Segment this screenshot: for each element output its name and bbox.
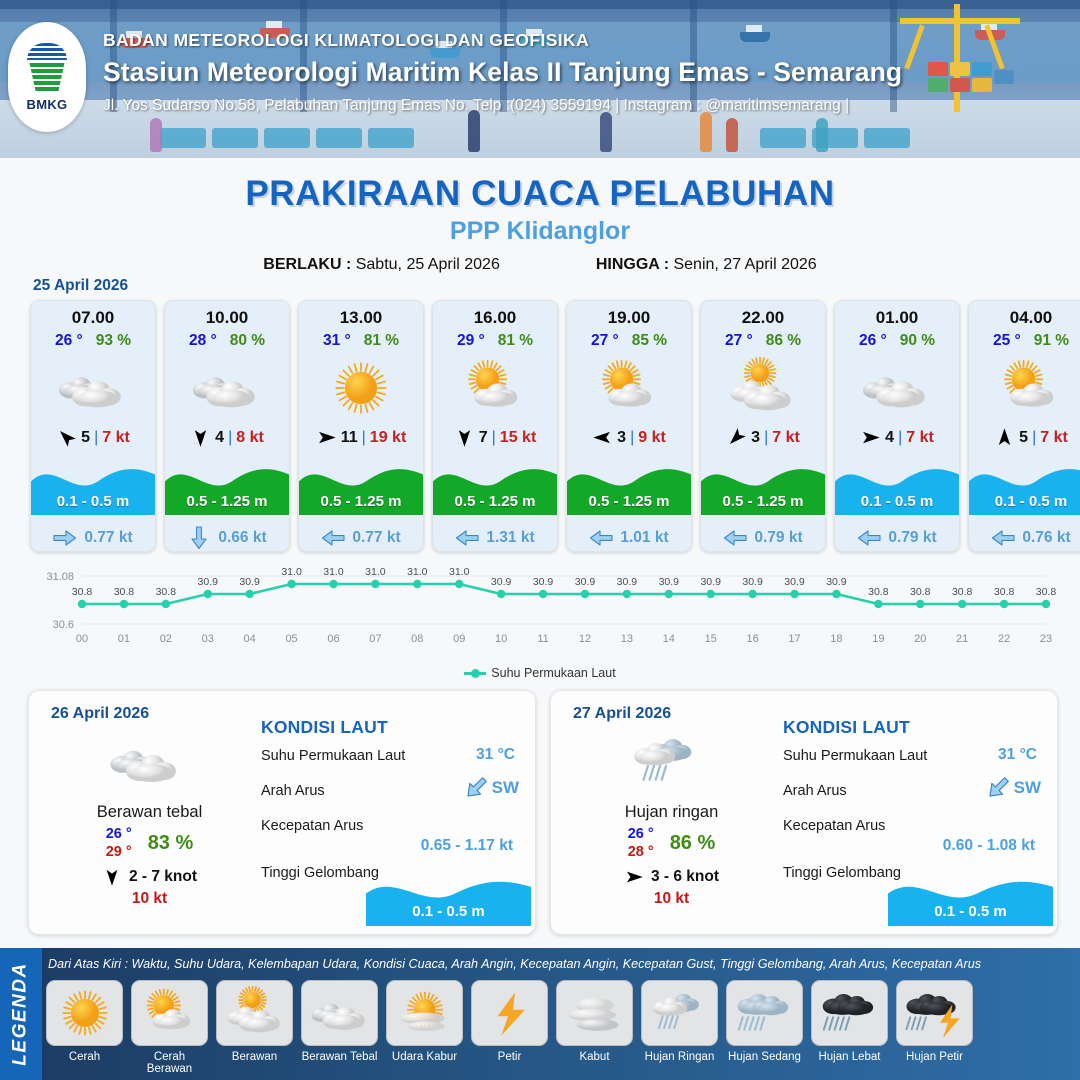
card-humidity: 90 % <box>900 332 935 350</box>
wave-height-value: 0.5 - 1.25 m <box>299 493 423 510</box>
wave-height-block: 0.1 - 0.5 m <box>835 457 959 515</box>
svg-text:13: 13 <box>621 633 633 645</box>
svg-text:22: 22 <box>998 633 1010 645</box>
card-time: 13.00 <box>299 308 423 328</box>
wind-direction-arrow-icon <box>190 427 211 448</box>
wind-speed: 4 <box>215 429 224 447</box>
svg-text:11: 11 <box>537 633 548 645</box>
current-speed: 1.01 kt <box>620 529 668 547</box>
weather-berawan-tebal-icon <box>165 355 289 421</box>
current-speed: 0.77 kt <box>84 529 132 547</box>
svg-text:30.9: 30.9 <box>575 576 596 588</box>
weather-cerah-berawan-icon <box>131 980 208 1046</box>
svg-text:00: 00 <box>76 633 88 645</box>
weather-cerah-berawan-icon <box>969 355 1080 421</box>
weather-udara-kabur-icon <box>386 980 463 1046</box>
svg-text:30.8: 30.8 <box>72 586 93 598</box>
svg-text:30.8: 30.8 <box>994 586 1015 598</box>
card-humidity: 93 % <box>96 332 131 350</box>
current-direction-arrow-icon <box>985 778 1011 798</box>
current-speed: 0.79 kt <box>888 529 936 547</box>
agency-name: BADAN METEOROLOGI KLIMATOLOGI DAN GEOFIS… <box>103 30 1063 51</box>
current-direction-value: SW <box>492 778 519 798</box>
svg-text:30.8: 30.8 <box>114 586 135 598</box>
forecast-card[interactable]: 16.00 29 ° 81 % 7 | 15 kt 0.5 - 1.25 m <box>432 300 558 552</box>
wind-separator: | <box>630 429 634 447</box>
panel-temp-min: 26 ° <box>106 825 132 843</box>
current-speed: 0.76 kt <box>1022 529 1070 547</box>
svg-text:12: 12 <box>579 633 591 645</box>
legend-band-title: LEGENDA <box>10 962 32 1065</box>
wind-separator: | <box>362 429 366 447</box>
legend-note: Dari Atas Kiri : Waktu, Suhu Udara, Kele… <box>48 957 1074 971</box>
card-time: 19.00 <box>567 308 691 328</box>
forecast-card[interactable]: 19.00 27 ° 85 % 3 | 9 kt 0.5 - 1.25 m <box>566 300 692 552</box>
card-temperature: 27 ° <box>725 332 753 350</box>
legend-item-label: Petir <box>471 1051 548 1063</box>
daily-summary-panels: 26 April 2026 Berawan tebal 26 ° 29 ° 83… <box>28 690 1058 935</box>
current-direction-arrow-icon <box>53 529 77 547</box>
svg-text:30.9: 30.9 <box>784 576 805 588</box>
forecast-card[interactable]: 22.00 27 ° 86 % 3 | 7 kt 0.5 - 1.25 <box>700 300 826 552</box>
panel-gust: 10 kt <box>569 890 774 908</box>
svg-text:30.8: 30.8 <box>156 586 177 598</box>
legend-item-label: Hujan Petir <box>896 1051 973 1063</box>
legend-item-list: Cerah Cerah Berawan Berawan <box>46 980 973 1075</box>
valid-until-label: HINGGA : <box>596 256 669 273</box>
card-time: 10.00 <box>165 308 289 328</box>
card-temperature: 26 ° <box>55 332 83 350</box>
wind-direction-arrow-icon <box>994 427 1015 448</box>
legend-item-label: Kabut <box>556 1051 633 1063</box>
svg-text:30.9: 30.9 <box>533 576 554 588</box>
sst-chart: 31.0830.630.80030.80130.80230.90330.9043… <box>22 562 1058 682</box>
sea-condition-title: KONDISI LAUT <box>261 717 523 738</box>
day-summary-panel: 26 April 2026 Berawan tebal 26 ° 29 ° 83… <box>28 690 536 935</box>
wave-height-block: 0.5 - 1.25 m <box>701 457 825 515</box>
station-name: Stasiun Meteorologi Maritim Kelas II Tan… <box>103 57 1063 88</box>
svg-text:02: 02 <box>160 633 172 645</box>
legend-item: Cerah <box>46 980 123 1075</box>
wind-speed: 5 <box>81 429 90 447</box>
legend-item-label: Cerah <box>46 1051 123 1063</box>
forecast-card[interactable]: 07.00 26 ° 93 % 5 | 7 kt 0.1 - 0.5 m <box>30 300 156 552</box>
current-direction-value: SW <box>1014 778 1041 798</box>
legend-item: Hujan Petir <box>896 980 973 1075</box>
legend-item: Berawan Tebal <box>301 980 378 1075</box>
svg-text:09: 09 <box>453 633 465 645</box>
wind-speed: 11 <box>341 429 358 447</box>
current-direction-arrow-icon <box>723 529 747 547</box>
weather-hujan-ringan-icon <box>569 729 774 795</box>
svg-text:14: 14 <box>663 633 675 645</box>
legend-item-label: Hujan Ringan <box>641 1051 718 1063</box>
wind-separator: | <box>492 429 496 447</box>
svg-text:30.8: 30.8 <box>868 586 889 598</box>
wind-direction-arrow-icon <box>316 427 337 448</box>
forecast-card[interactable]: 10.00 28 ° 80 % 4 | 8 kt 0.5 - 1.25 <box>164 300 290 552</box>
panel-temp-max: 28 ° <box>628 843 654 861</box>
current-direction-arrow-icon <box>857 529 881 547</box>
svg-text:20: 20 <box>914 633 926 645</box>
wind-separator: | <box>94 429 98 447</box>
svg-text:18: 18 <box>830 633 842 645</box>
panel-wave-block: 0.1 - 0.5 m <box>366 870 531 926</box>
wave-height-value: 0.1 - 0.5 m <box>31 493 155 510</box>
card-time: 16.00 <box>433 308 557 328</box>
svg-text:01: 01 <box>118 633 130 645</box>
current-direction-arrow-icon <box>455 529 479 547</box>
wind-gust: 15 kt <box>500 429 536 447</box>
wave-height-block: 0.1 - 0.5 m <box>969 457 1080 515</box>
valid-from: BERLAKU : Sabtu, 25 April 2026 <box>263 256 500 274</box>
panel-condition: Berawan tebal <box>47 803 252 822</box>
title-block: PRAKIRAAN CUACA PELABUHAN PPP Klidanglor… <box>0 174 1080 274</box>
legend-item: Cerah Berawan <box>131 980 208 1075</box>
weather-berawan-tebal-icon <box>31 355 155 421</box>
sst-label: Suhu Permukaan Laut <box>783 748 927 764</box>
weather-cerah-icon <box>299 355 423 421</box>
legend-item: Hujan Lebat <box>811 980 888 1075</box>
wind-gust: 8 kt <box>236 429 264 447</box>
card-temperature: 27 ° <box>591 332 619 350</box>
current-direction-label: Arah Arus <box>261 783 325 799</box>
page-header: BMKG BADAN METEOROLOGI KLIMATOLOGI DAN G… <box>0 0 1080 158</box>
svg-text:23: 23 <box>1040 633 1052 645</box>
panel-wind-range: 2 - 7 knot <box>129 868 197 886</box>
svg-text:30.9: 30.9 <box>198 576 219 588</box>
wave-height-block: 0.1 - 0.5 m <box>31 457 155 515</box>
port-name: PPP Klidanglor <box>0 217 1080 246</box>
legend-item-label: Hujan Sedang <box>726 1051 803 1063</box>
svg-text:30.8: 30.8 <box>1036 586 1057 598</box>
card-temperature: 25 ° <box>993 332 1021 350</box>
logo-label: BMKG <box>27 97 68 112</box>
wave-height-value: 0.1 - 0.5 m <box>835 493 959 510</box>
sst-label: Suhu Permukaan Laut <box>261 748 405 764</box>
wave-height-block: 0.5 - 1.25 m <box>567 457 691 515</box>
svg-text:30.8: 30.8 <box>910 586 931 598</box>
svg-text:30.9: 30.9 <box>826 576 847 588</box>
wind-direction-arrow-icon <box>454 427 475 448</box>
current-speed: 0.77 kt <box>352 529 400 547</box>
wave-height-block: 0.5 - 1.25 m <box>165 457 289 515</box>
svg-text:30.9: 30.9 <box>742 576 763 588</box>
wind-direction-arrow-icon <box>624 867 644 887</box>
svg-text:31.0: 31.0 <box>281 566 302 578</box>
panel-wind-range: 3 - 6 knot <box>651 868 719 886</box>
weather-berawan-icon <box>216 980 293 1046</box>
wind-separator: | <box>1032 429 1036 447</box>
weather-berawan-tebal-icon <box>835 355 959 421</box>
weather-hujan-lebat-icon <box>811 980 888 1046</box>
contact-info: Jl. Yos Sudarso No.58, Pelabuhan Tanjung… <box>103 97 1063 115</box>
legend-item: Kabut <box>556 980 633 1075</box>
wave-height-block: 0.5 - 1.25 m <box>433 457 557 515</box>
current-direction-arrow-icon <box>463 778 489 798</box>
weather-berawan-tebal-icon <box>301 980 378 1046</box>
wind-separator: | <box>898 429 902 447</box>
valid-from-value: Sabtu, 25 April 2026 <box>356 256 500 273</box>
svg-text:30.8: 30.8 <box>952 586 973 598</box>
svg-text:31.0: 31.0 <box>365 566 386 578</box>
svg-text:06: 06 <box>327 633 339 645</box>
current-direction-arrow-icon <box>321 529 345 547</box>
panel-date: 26 April 2026 <box>51 705 149 723</box>
panel-temp-min: 26 ° <box>628 825 654 843</box>
chart-legend: Suhu Permukaan Laut <box>22 666 1058 680</box>
current-direction-arrow-icon <box>187 529 211 547</box>
weather-kabut-icon <box>556 980 633 1046</box>
svg-text:03: 03 <box>202 633 214 645</box>
svg-text:30.9: 30.9 <box>659 576 680 588</box>
legend-item-label: Udara Kabur <box>386 1051 463 1063</box>
weather-cerah-icon <box>46 980 123 1046</box>
card-temperature: 29 ° <box>457 332 485 350</box>
wind-gust: 7 kt <box>906 429 934 447</box>
wind-direction-arrow-icon <box>56 427 77 448</box>
wind-separator: | <box>228 429 232 447</box>
wind-direction-arrow-icon <box>726 427 747 448</box>
current-speed-value: 0.65 - 1.17 kt <box>261 837 523 855</box>
wind-speed: 4 <box>885 429 894 447</box>
sst-value: 31 °C <box>998 746 1037 764</box>
wave-height-value: 0.5 - 1.25 m <box>567 493 691 510</box>
wind-separator: | <box>764 429 768 447</box>
svg-text:19: 19 <box>872 633 884 645</box>
legend-item: Hujan Ringan <box>641 980 718 1075</box>
legend-item-label: Berawan <box>216 1051 293 1063</box>
legend-item-label: Berawan Tebal <box>301 1051 378 1063</box>
card-humidity: 81 % <box>364 332 399 350</box>
wave-height-label: Tinggi Gelombang <box>261 865 379 881</box>
card-time: 01.00 <box>835 308 959 328</box>
legend-item: Hujan Sedang <box>726 980 803 1075</box>
card-humidity: 80 % <box>230 332 265 350</box>
wave-height-value: 0.5 - 1.25 m <box>165 493 289 510</box>
wind-speed: 7 <box>479 429 488 447</box>
panel-humidity: 86 % <box>670 832 716 855</box>
current-speed: 1.31 kt <box>486 529 534 547</box>
svg-text:30.6: 30.6 <box>53 619 74 631</box>
valid-from-label: BERLAKU : <box>263 256 351 273</box>
svg-text:16: 16 <box>746 633 758 645</box>
wave-height-label: Tinggi Gelombang <box>783 865 901 881</box>
current-direction-label: Arah Arus <box>783 783 847 799</box>
panel-gust: 10 kt <box>47 890 252 908</box>
panel-temp-max: 29 ° <box>106 843 132 861</box>
svg-text:05: 05 <box>285 633 297 645</box>
chart-legend-label: Suhu Permukaan Laut <box>491 666 615 680</box>
card-temperature: 28 ° <box>189 332 217 350</box>
wind-speed: 3 <box>751 429 760 447</box>
legend-line-icon <box>464 672 486 675</box>
current-speed: 0.66 kt <box>218 529 266 547</box>
weather-cerah-berawan-icon <box>567 355 691 421</box>
svg-text:08: 08 <box>411 633 423 645</box>
svg-text:15: 15 <box>705 633 717 645</box>
svg-text:21: 21 <box>956 633 968 645</box>
panel-date: 27 April 2026 <box>573 705 671 723</box>
wave-height-value: 0.5 - 1.25 m <box>433 493 557 510</box>
validity-row: BERLAKU : Sabtu, 25 April 2026 HINGGA : … <box>0 256 1080 274</box>
legend-item-label: Cerah Berawan <box>131 1051 208 1075</box>
weather-hujan-sedang-icon <box>726 980 803 1046</box>
weather-cerah-berawan-icon <box>433 355 557 421</box>
legend-item: Berawan <box>216 980 293 1075</box>
svg-text:07: 07 <box>369 633 381 645</box>
svg-text:30.9: 30.9 <box>491 576 512 588</box>
wave-height-block: 0.5 - 1.25 m <box>299 457 423 515</box>
wind-gust: 7 kt <box>102 429 130 447</box>
weather-berawan-tebal-icon <box>47 729 252 795</box>
panel-wave-block: 0.1 - 0.5 m <box>888 870 1053 926</box>
wind-direction-arrow-icon <box>592 427 613 448</box>
svg-text:10: 10 <box>495 633 507 645</box>
logo-trapezoid-icon <box>27 63 67 93</box>
current-direction-arrow-icon <box>589 529 613 547</box>
wind-gust: 7 kt <box>1040 429 1068 447</box>
wind-speed: 3 <box>617 429 626 447</box>
card-humidity: 91 % <box>1034 332 1069 350</box>
wind-gust: 19 kt <box>370 429 406 447</box>
page-title: PRAKIRAAN CUACA PELABUHAN <box>0 174 1080 214</box>
card-temperature: 31 ° <box>323 332 351 350</box>
wave-height-value: 0.5 - 1.25 m <box>701 493 825 510</box>
svg-text:30.9: 30.9 <box>617 576 638 588</box>
current-speed-value: 0.60 - 1.08 kt <box>783 837 1045 855</box>
valid-until: HINGGA : Senin, 27 April 2026 <box>596 256 817 274</box>
sst-value: 31 °C <box>476 746 515 764</box>
valid-until-value: Senin, 27 April 2026 <box>673 256 816 273</box>
legend-item: Petir <box>471 980 548 1075</box>
wind-speed: 5 <box>1019 429 1028 447</box>
forecast-card[interactable]: 01.00 26 ° 90 % 4 | 7 kt 0.1 - 0.5 m <box>834 300 960 552</box>
panel-condition: Hujan ringan <box>569 803 774 822</box>
forecast-card[interactable]: 04.00 25 ° 91 % 5 | 7 kt 0.1 - 0.5 m <box>968 300 1080 552</box>
weather-hujan-ringan-icon <box>641 980 718 1046</box>
day-summary-panel: 27 April 2026 Hujan ringan 26 ° 28 ° 86 … <box>550 690 1058 935</box>
wind-gust: 9 kt <box>638 429 666 447</box>
card-temperature: 26 ° <box>859 332 887 350</box>
svg-text:17: 17 <box>788 633 800 645</box>
panel-humidity: 83 % <box>148 832 194 855</box>
current-speed-label: Kecepatan Arus <box>261 818 363 834</box>
svg-text:04: 04 <box>244 633 256 645</box>
panel-wave-value: 0.1 - 0.5 m <box>888 903 1053 920</box>
forecast-card-list: 07.00 26 ° 93 % 5 | 7 kt 0.1 - 0.5 m <box>30 300 1080 552</box>
svg-text:31.0: 31.0 <box>449 566 470 578</box>
panel-wave-value: 0.1 - 0.5 m <box>366 903 531 920</box>
svg-text:31.0: 31.0 <box>407 566 428 578</box>
wind-direction-arrow-icon <box>102 867 122 887</box>
svg-text:31.08: 31.08 <box>46 571 74 583</box>
current-speed-label: Kecepatan Arus <box>783 818 885 834</box>
current-speed: 0.79 kt <box>754 529 802 547</box>
legend-item-label: Hujan Lebat <box>811 1051 888 1063</box>
weather-berawan-icon <box>701 355 825 421</box>
wind-direction-arrow-icon <box>860 427 881 448</box>
svg-text:31.0: 31.0 <box>323 566 344 578</box>
forecast-card[interactable]: 13.00 31 ° 81 % 11 | 19 kt 0.5 - 1.25 m … <box>298 300 424 552</box>
svg-text:30.9: 30.9 <box>700 576 721 588</box>
card-time: 04.00 <box>969 308 1080 328</box>
card-time: 07.00 <box>31 308 155 328</box>
legend-item: Udara Kabur <box>386 980 463 1075</box>
weather-hujan-petir-icon <box>896 980 973 1046</box>
legend-footer: LEGENDA Dari Atas Kiri : Waktu, Suhu Uda… <box>0 948 1080 1080</box>
card-humidity: 81 % <box>498 332 533 350</box>
forecast-date-label: 25 April 2026 <box>33 277 128 295</box>
wave-height-value: 0.1 - 0.5 m <box>969 493 1080 510</box>
legend-band: LEGENDA <box>0 948 42 1080</box>
logo-arc-icon <box>27 43 67 60</box>
weather-petir-icon <box>471 980 548 1046</box>
svg-text:30.9: 30.9 <box>239 576 260 588</box>
wind-gust: 7 kt <box>772 429 800 447</box>
card-humidity: 85 % <box>632 332 667 350</box>
bmkg-logo: BMKG <box>8 22 86 132</box>
card-time: 22.00 <box>701 308 825 328</box>
current-direction-arrow-icon <box>991 529 1015 547</box>
sea-condition-title: KONDISI LAUT <box>783 717 1045 738</box>
card-humidity: 86 % <box>766 332 801 350</box>
